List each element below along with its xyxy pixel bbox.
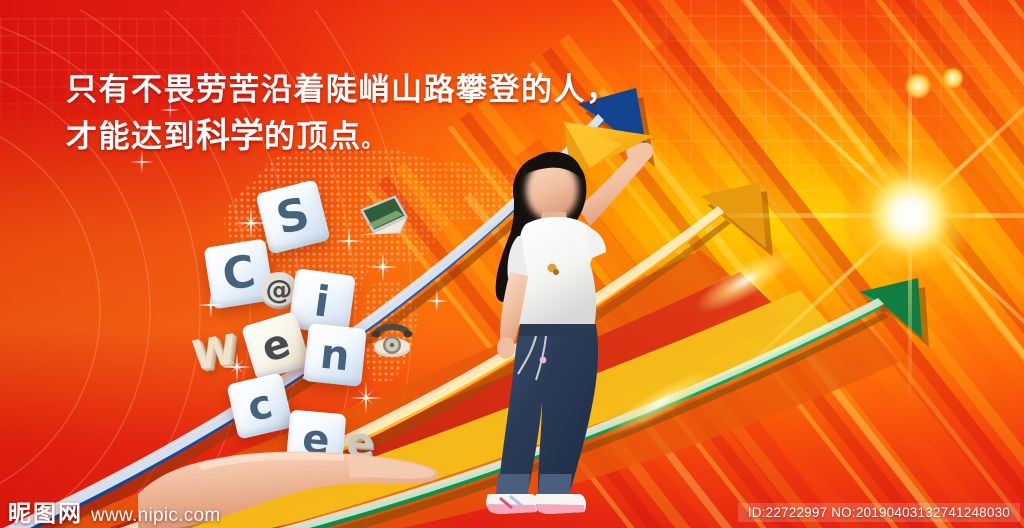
- headline-line-2-after: 的顶点: [264, 119, 362, 154]
- rotary-telephone-icon: [368, 320, 416, 358]
- sun-flare-small: [905, 73, 931, 99]
- asset-id-bar: ID:22722997 NO:20190403132741248030: [738, 503, 1020, 522]
- letter-3d-W: W: [190, 326, 238, 379]
- letter-tile-n: n: [303, 323, 367, 387]
- poster-canvas: 只有不畏劳苦沿着陡峭山路攀登的人， 才能达到科学的顶点。: [0, 0, 1024, 528]
- watermark-url: www.nipic.com: [91, 506, 221, 526]
- headline-period: 。: [362, 127, 386, 152]
- watermark: 昵图网 www.nipic.com: [8, 503, 221, 526]
- watermark-site-name-cn: 昵图网: [8, 503, 83, 526]
- headline-line-2-before: 才能达到: [66, 119, 196, 154]
- headline-emphasis-science: 科学: [196, 116, 264, 156]
- svg-text:@: @: [266, 275, 293, 306]
- headline-line-1: 只有不畏劳苦沿着陡峭山路攀登的人，: [66, 66, 686, 113]
- girl-figure: [466, 112, 686, 522]
